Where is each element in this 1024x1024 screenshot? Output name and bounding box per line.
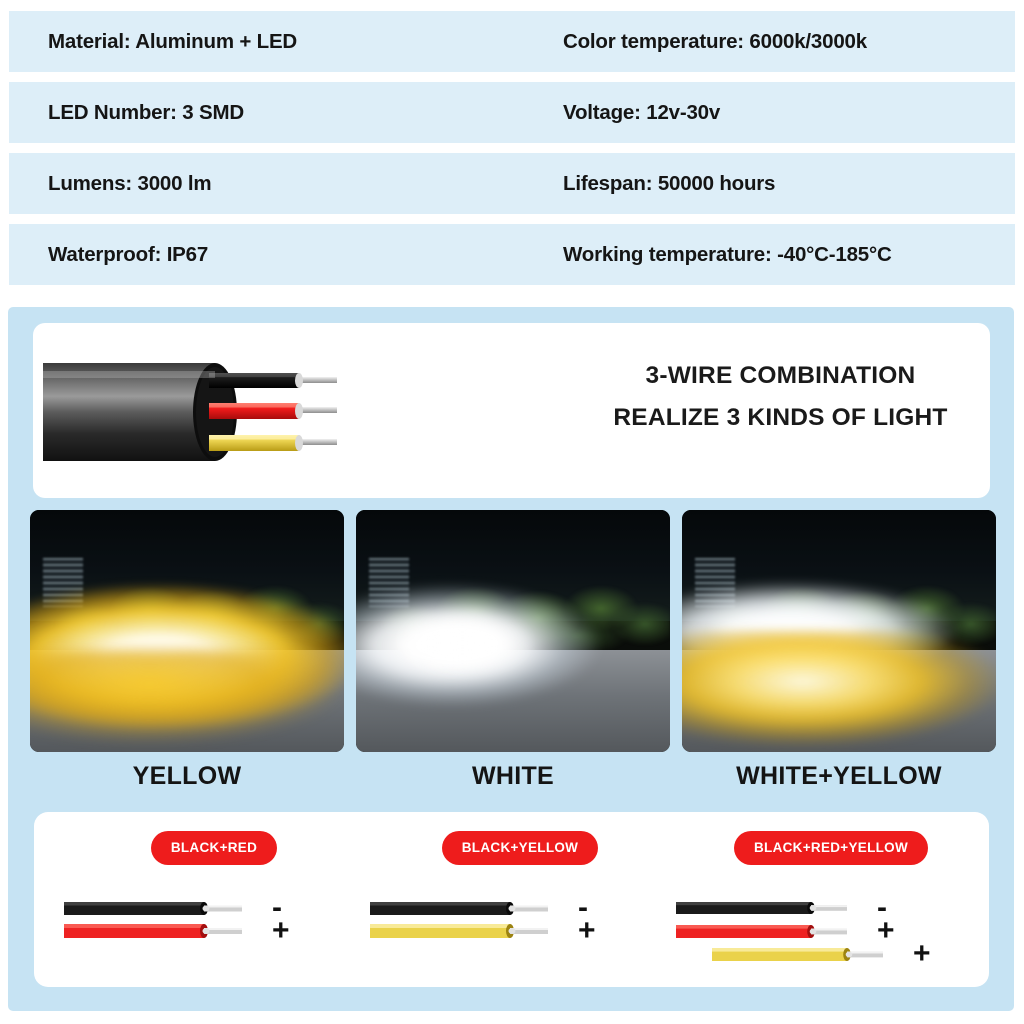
- beam-photo-white-yellow: [682, 510, 996, 752]
- spec-lifespan: Lifespan: 50000 hours: [563, 172, 775, 196]
- beam-photo-yellow: [30, 510, 344, 752]
- wire-headline-line-2: REALIZE 3 KINDS OF LIGHT: [573, 397, 988, 439]
- beam-label-white-yellow: WHITE+YELLOW: [682, 762, 996, 791]
- wire-black-icon: [676, 898, 861, 917]
- cable-svg: [41, 341, 551, 481]
- product-infographic: Material: Aluminum + LED Color temperatu…: [0, 0, 1024, 1024]
- polarity-positive: +: [578, 920, 596, 941]
- badge-black-red-yellow: BLACK+RED+YELLOW: [734, 831, 928, 865]
- wire-yellow-icon: [712, 944, 897, 964]
- spec-material: Material: Aluminum + LED: [48, 30, 563, 54]
- wire-row-black: -: [676, 896, 986, 919]
- combination-black-red: BLACK+RED -: [64, 812, 364, 987]
- specification-table: Material: Aluminum + LED Color temperatu…: [9, 11, 1015, 295]
- wire-red-icon: [676, 921, 861, 941]
- wire-row-black: -: [370, 896, 670, 919]
- spec-row: Material: Aluminum + LED Color temperatu…: [9, 11, 1015, 72]
- blue-feature-panel: 3-WIRE COMBINATION REALIZE 3 KINDS OF LI…: [8, 307, 1014, 1011]
- spec-row: Lumens: 3000 lm Lifespan: 50000 hours: [9, 153, 1015, 214]
- spec-color-temperature: Color temperature: 6000k/3000k: [563, 30, 867, 54]
- wiring-combination-card: BLACK+RED -: [34, 812, 989, 987]
- spec-row: Waterproof: IP67 Working temperature: -4…: [9, 224, 1015, 285]
- wire-row-red: +: [64, 919, 364, 942]
- wire-headline: 3-WIRE COMBINATION REALIZE 3 KINDS OF LI…: [573, 355, 988, 439]
- combination-black-yellow: BLACK+YELLOW -: [370, 812, 670, 987]
- beam-label-yellow: YELLOW: [30, 762, 344, 791]
- wire-red-icon: [64, 920, 256, 942]
- spec-row: LED Number: 3 SMD Voltage: 12v-30v: [9, 82, 1015, 143]
- wire-headline-line-1: 3-WIRE COMBINATION: [573, 355, 988, 397]
- wire-row-red: +: [676, 919, 986, 942]
- beam-photo-strip: [30, 510, 996, 752]
- cable-diagram-card: 3-WIRE COMBINATION REALIZE 3 KINDS OF LI…: [33, 323, 990, 498]
- beam-photo-white: [356, 510, 670, 752]
- spec-working-temperature: Working temperature: -40°C-185°C: [563, 243, 892, 267]
- polarity-positive: +: [913, 943, 931, 964]
- badge-black-yellow: BLACK+YELLOW: [442, 831, 598, 865]
- polarity-positive: +: [877, 920, 895, 941]
- combination-black-red-yellow: BLACK+RED+YELLOW -: [676, 812, 986, 987]
- spec-waterproof: Waterproof: IP67: [48, 243, 563, 267]
- spec-led-number: LED Number: 3 SMD: [48, 101, 563, 125]
- badge-black-red: BLACK+RED: [151, 831, 277, 865]
- wire-row-yellow: +: [370, 919, 670, 942]
- wire-yellow-icon: [370, 920, 562, 942]
- wire-row-black: -: [64, 896, 364, 919]
- beam-label-white: WHITE: [356, 762, 670, 791]
- cable-illustration: [41, 341, 551, 481]
- wire-black-icon: [64, 898, 256, 918]
- spec-voltage: Voltage: 12v-30v: [563, 101, 720, 125]
- polarity-positive: +: [272, 920, 290, 941]
- spec-lumens: Lumens: 3000 lm: [48, 172, 563, 196]
- beam-photo-labels: YELLOW WHITE WHITE+YELLOW: [30, 762, 996, 802]
- wire-row-yellow: +: [712, 942, 986, 965]
- wire-black-icon: [370, 898, 562, 918]
